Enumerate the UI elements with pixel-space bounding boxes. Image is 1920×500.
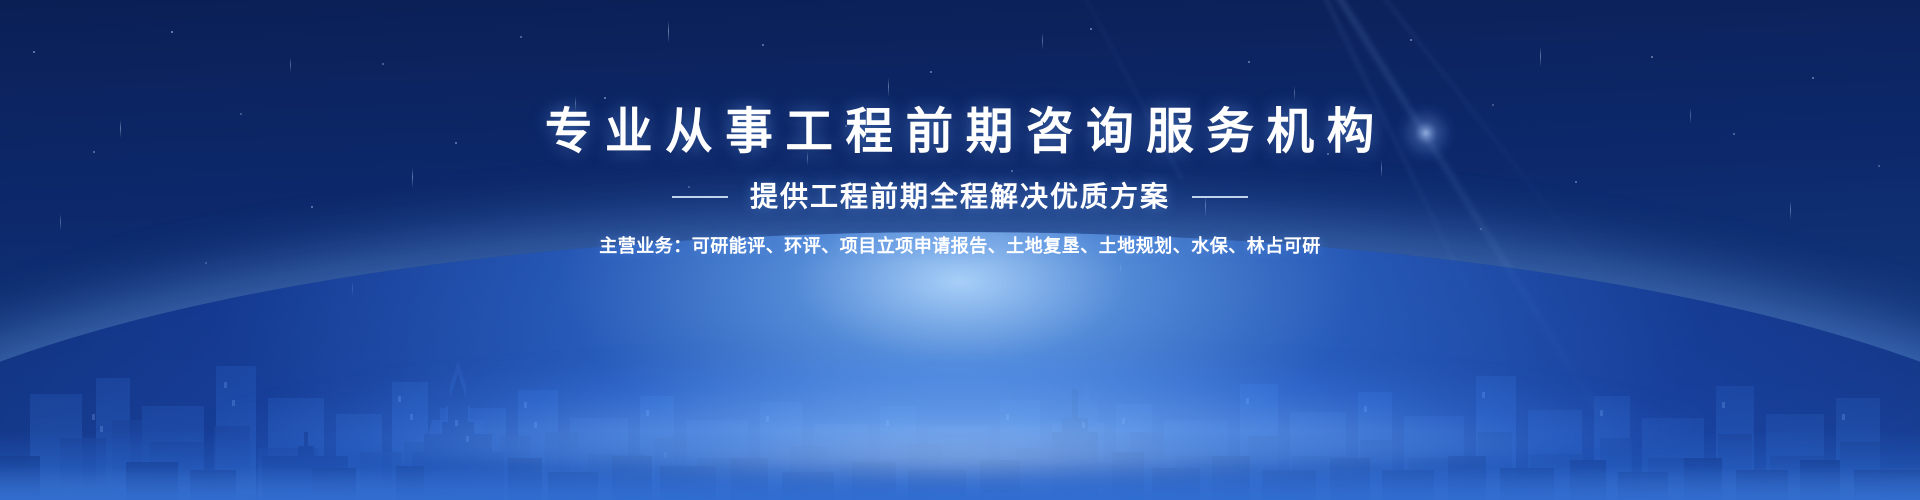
main-services-text: 主营业务：可研能评、环评、项目立项申请报告、土地复垦、土地规划、水保、林占可研 xyxy=(599,237,1321,255)
dash-right-icon xyxy=(1192,196,1248,198)
subtitle-row: 提供工程前期全程解决优质方案 xyxy=(672,183,1248,211)
page-title: 专业从事工程前期咨询服务机构 xyxy=(533,108,1388,157)
banner-content: 专业从事工程前期咨询服务机构 提供工程前期全程解决优质方案 主营业务：可研能评、… xyxy=(0,0,1920,500)
hero-banner: 专业从事工程前期咨询服务机构 提供工程前期全程解决优质方案 主营业务：可研能评、… xyxy=(0,0,1920,500)
dash-left-icon xyxy=(672,196,728,198)
page-subtitle: 提供工程前期全程解决优质方案 xyxy=(750,183,1170,211)
